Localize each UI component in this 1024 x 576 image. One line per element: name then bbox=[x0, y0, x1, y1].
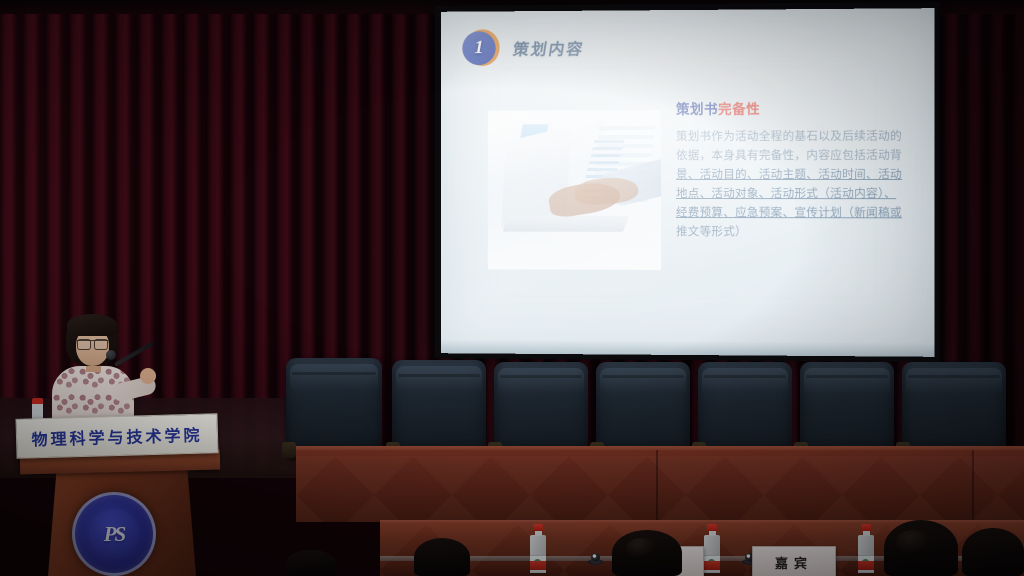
chair bbox=[800, 362, 894, 458]
table-lattice-pattern bbox=[296, 456, 1024, 522]
water-bottle bbox=[530, 524, 546, 570]
podium-name-sign: 物理科学与技术学院 bbox=[15, 413, 218, 459]
audience-head-highlight bbox=[626, 538, 656, 558]
body-line: 推文等形式） bbox=[676, 222, 918, 242]
chair bbox=[698, 362, 792, 458]
speaker-fringe bbox=[67, 314, 117, 336]
slide-number-badge: 1 bbox=[462, 29, 499, 67]
heading-part-one: 策划书 bbox=[676, 102, 718, 118]
microphone-head-icon bbox=[106, 350, 116, 360]
lecture-hall-scene: 1 策划内容 策划书完备性 策划书作为活动全程的基石以及后续活动的 依据，本身具… bbox=[0, 0, 1024, 576]
chair bbox=[494, 362, 588, 458]
bottle-body bbox=[530, 535, 546, 570]
bottle-body bbox=[704, 535, 720, 570]
chair-armrest bbox=[282, 442, 296, 458]
bottle-body bbox=[858, 535, 874, 570]
heading-part-two: 完备性 bbox=[718, 102, 760, 118]
table-microphone bbox=[588, 552, 603, 565]
audience-head bbox=[286, 550, 336, 576]
chair bbox=[596, 362, 690, 458]
mic-capsule-icon bbox=[591, 553, 600, 562]
bottle-label-band bbox=[858, 561, 874, 570]
speaker-glasses-bridge bbox=[77, 340, 108, 349]
badge-number-label: 1 bbox=[462, 31, 495, 65]
placard-text: 嘉宾 bbox=[775, 553, 813, 572]
slide-body-heading: 策划书完备性 bbox=[676, 97, 918, 118]
chair bbox=[392, 360, 486, 458]
table-panel-seam bbox=[972, 450, 974, 522]
podium-sign-text: 物理科学与技术学院 bbox=[31, 422, 203, 451]
body-line: 地点、活动对象、活动形式（活动内容）、 bbox=[676, 184, 918, 203]
bottle-cap bbox=[707, 524, 717, 531]
body-line: 策划书作为活动全程的基石以及后续活动的 bbox=[676, 126, 918, 146]
audience-head bbox=[962, 528, 1024, 576]
projection-screen: 1 策划内容 策划书完备性 策划书作为活动全程的基石以及后续活动的 依据，本身具… bbox=[441, 8, 935, 357]
water-bottle bbox=[704, 524, 720, 570]
bottle-label-band bbox=[704, 561, 720, 570]
chair bbox=[286, 358, 382, 458]
slide-body: 策划书完备性 策划书作为活动全程的基石以及后续活动的 依据，本身具有完备性，内容… bbox=[676, 97, 918, 241]
chair bbox=[902, 362, 1006, 458]
slide-title: 策划内容 bbox=[512, 36, 587, 60]
slide-photo bbox=[488, 110, 661, 270]
slide-body-paragraph: 策划书作为活动全程的基石以及后续活动的 依据，本身具有完备性，内容应包括活动背 … bbox=[676, 126, 918, 241]
slide-header: 1 策划内容 bbox=[462, 29, 584, 67]
photo-overlay-wash bbox=[488, 110, 661, 270]
bottle-cap bbox=[533, 524, 543, 531]
head-table bbox=[296, 450, 1024, 522]
university-emblem: PS bbox=[72, 492, 156, 576]
body-line: 依据，本身具有完备性，内容应包括活动背 bbox=[676, 146, 918, 165]
audience-head bbox=[414, 538, 470, 576]
emblem-monogram: PS bbox=[89, 509, 139, 559]
body-line: 经费预算、应急预案、宣传计划（新闻稿或 bbox=[676, 203, 918, 222]
audience-head-highlight bbox=[896, 530, 930, 554]
bottle-label-band bbox=[530, 561, 546, 570]
name-placard-guest: 嘉宾 bbox=[752, 546, 836, 576]
body-line: 景、活动目的、活动主题、活动时间、活动 bbox=[676, 165, 918, 184]
bottle-cap bbox=[861, 524, 871, 531]
table-panel-seam bbox=[656, 450, 658, 522]
speaker-hand bbox=[140, 368, 156, 384]
water-bottle bbox=[858, 524, 874, 570]
